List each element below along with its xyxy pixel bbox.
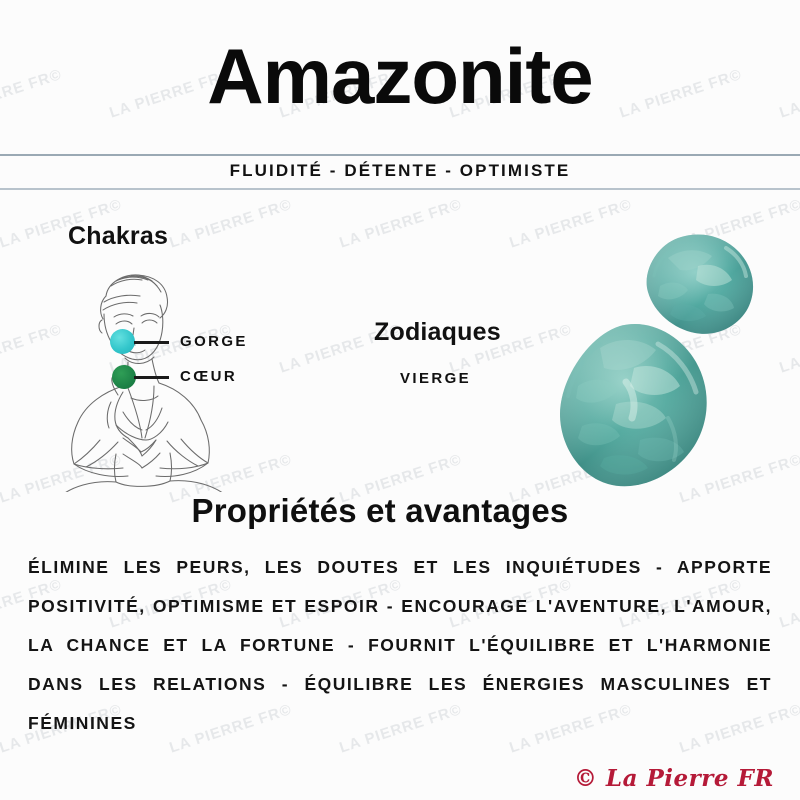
chakra-label-gorge: GORGE — [180, 333, 248, 350]
subtitle-keywords: FLUIDITÉ - DÉTENTE - OPTIMISTE — [0, 161, 800, 181]
chakra-label-coeur: CŒUR — [180, 368, 237, 385]
zodiac-heading: Zodiaques — [374, 318, 501, 347]
leader-line-gorge — [134, 341, 169, 344]
divider-top — [0, 154, 800, 156]
chakras-heading: Chakras — [68, 222, 168, 251]
watermark-text: LA PIERRE FR© — [507, 196, 634, 252]
properties-body-text: ÉLIMINE LES PEURS, LES DOUTES ET LES INQ… — [28, 548, 772, 743]
leader-line-coeur — [134, 376, 169, 379]
copyright-signature: © La Pierre FR — [574, 765, 774, 792]
zodiac-sign-vierge: VIERGE — [400, 370, 471, 387]
watermark-text: LA PIERRE FR© — [167, 196, 294, 252]
gemstone-info-card: LA PIERRE FR©LA PIERRE FR©LA PIERRE FR©L… — [0, 0, 800, 800]
properties-heading: Propriétés et avantages — [0, 492, 760, 530]
chakra-dot-gorge — [110, 329, 135, 354]
chakra-dot-coeur — [112, 365, 136, 389]
page-title: Amazonite — [0, 34, 800, 118]
amazonite-stone-large — [556, 322, 716, 490]
divider-bottom — [0, 188, 800, 190]
watermark-text: LA PIERRE FR© — [777, 576, 800, 632]
watermark-text: LA PIERRE FR© — [337, 196, 464, 252]
watermark-text: LA PIERRE FR© — [777, 321, 800, 377]
